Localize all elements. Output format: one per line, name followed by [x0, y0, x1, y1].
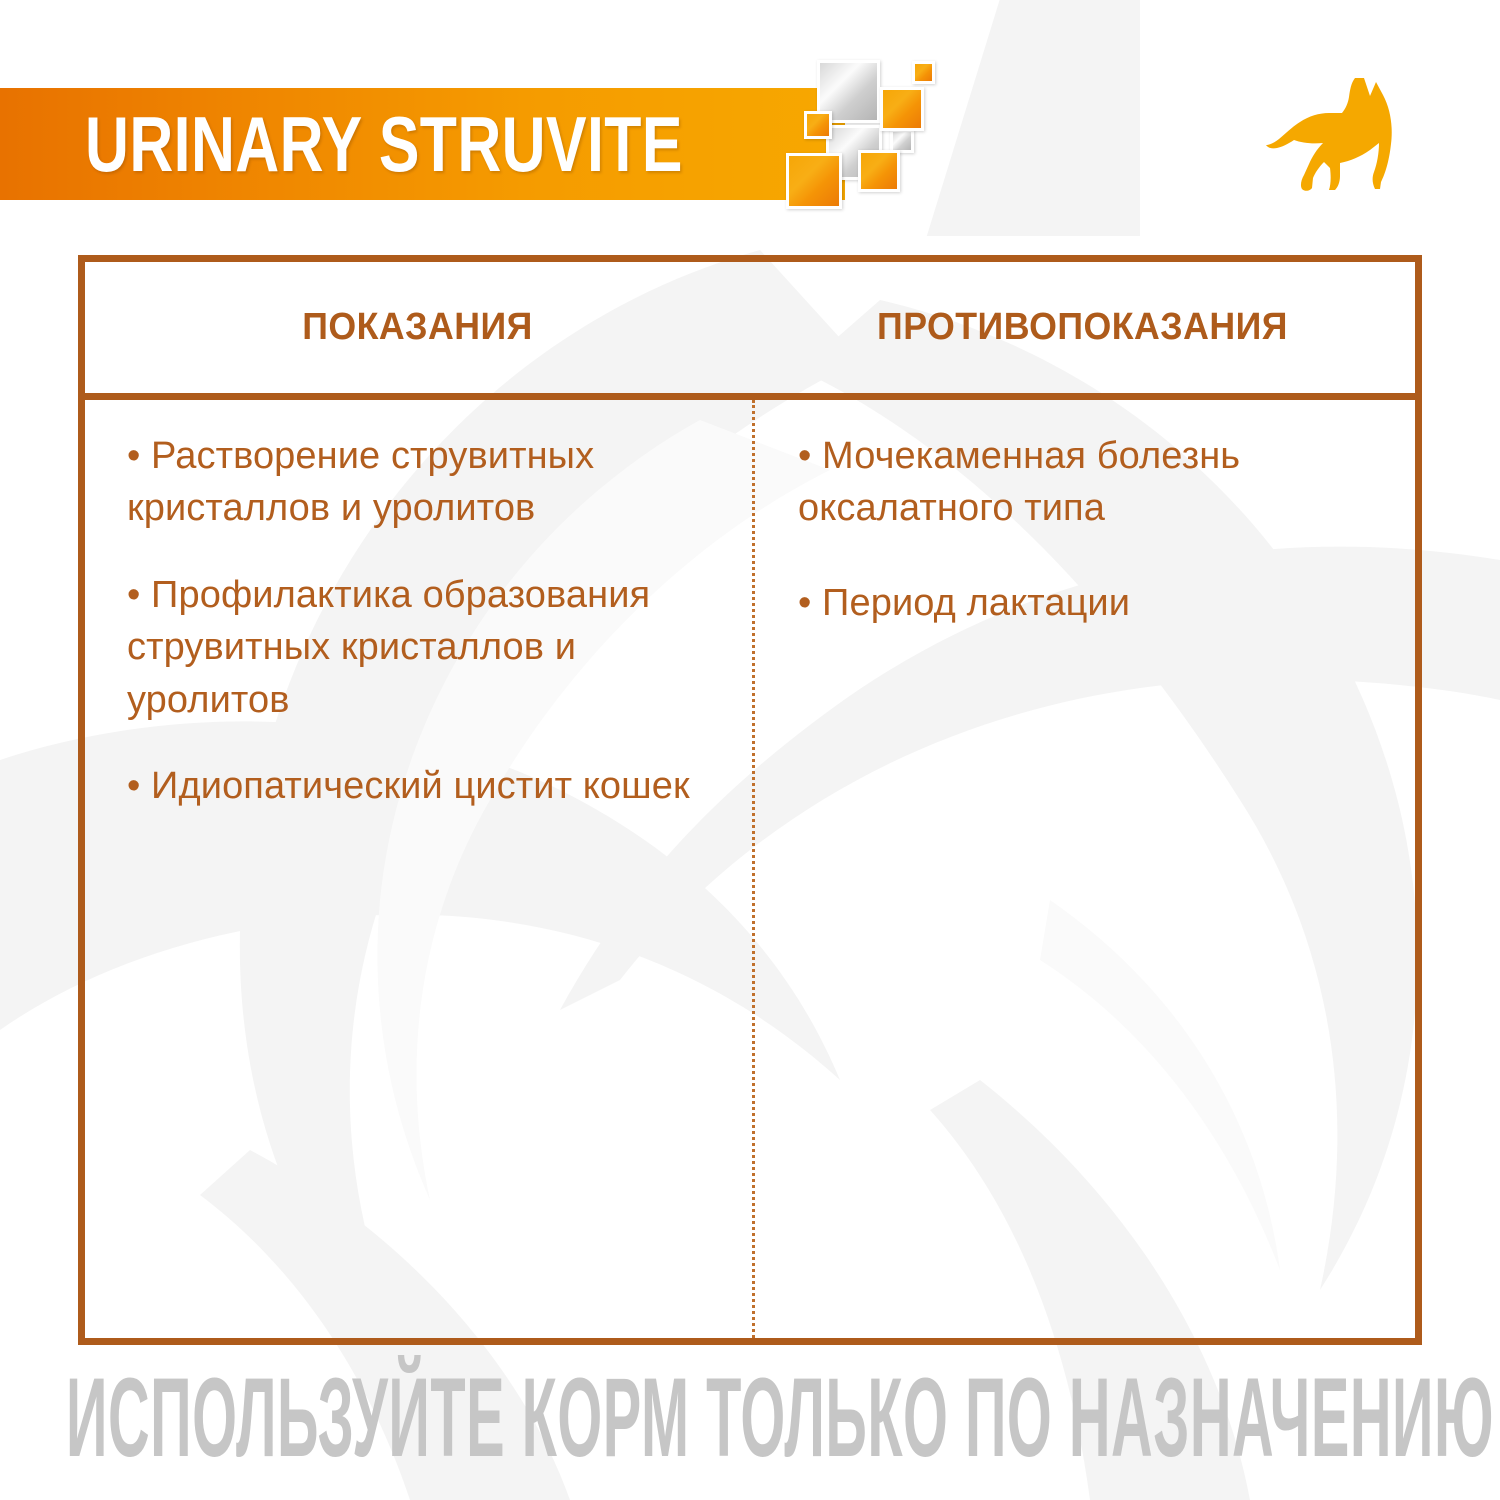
footer-disclaimer: ИСПОЛЬЗУЙТЕ КОРМ ТОЛЬКО ПО НАЗНАЧЕНИЮ ВР…: [66, 1362, 773, 1474]
column-header-indications: ПОКАЗАНИЯ: [105, 262, 730, 393]
mosaic-square-orange-large: [786, 153, 842, 209]
column-indications: • Растворение струвитных кристаллов и ур…: [85, 400, 750, 1338]
table-header-row: ПОКАЗАНИЯ ПРОТИВОПОКАЗАНИЯ: [85, 262, 1415, 400]
list-item: • Профилактика образования струвитных кр…: [127, 569, 716, 726]
decorative-squares: [790, 55, 970, 235]
cat-silhouette-icon: [1252, 70, 1432, 210]
column-contraindications: • Мочекаменная болезнь оксалатного типа …: [750, 400, 1415, 1338]
column-header-contraindications: ПРОТИВОПОКАЗАНИЯ: [770, 262, 1395, 393]
page-title: URINARY STRUVITE: [85, 88, 662, 200]
list-item: • Мочекаменная болезнь оксалатного типа: [798, 430, 1381, 535]
comparison-table: ПОКАЗАНИЯ ПРОТИВОПОКАЗАНИЯ • Растворение…: [78, 255, 1422, 1345]
list-item: • Растворение струвитных кристаллов и ур…: [127, 430, 716, 535]
mosaic-square-orange-bottom: [858, 150, 900, 192]
list-item: • Идиопатический цистит кошек: [127, 760, 716, 812]
list-item: • Период лактации: [798, 577, 1381, 629]
table-body-row: • Растворение струвитных кристаллов и ур…: [85, 400, 1415, 1338]
column-divider: [752, 400, 755, 1338]
mosaic-square-orange-small: [804, 111, 832, 139]
mosaic-square-orange-tiny: [912, 61, 935, 84]
mosaic-square-orange-medium: [880, 87, 924, 131]
